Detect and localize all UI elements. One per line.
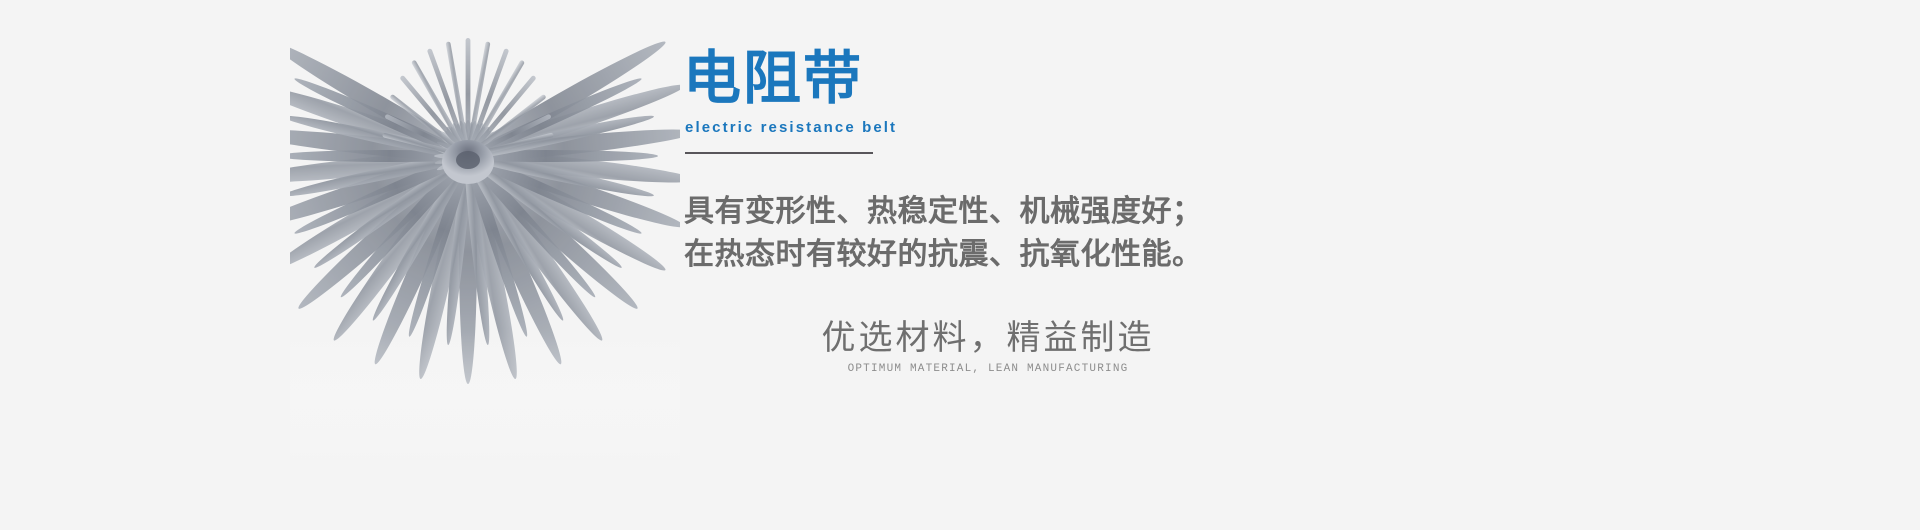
product-banner: 电阻带 electric resistance belt 具有变形性、热稳定性、… [0, 0, 1920, 530]
description-line-1: 具有变形性、热稳定性、机械强度好； [684, 190, 1244, 233]
slogan-chinese: 优选材料，精益制造 [778, 318, 1198, 360]
title-divider [685, 152, 873, 154]
slogan-block: 优选材料，精益制造 OPTIMUM MATERIAL, LEAN MANUFAC… [778, 318, 1198, 376]
resistance-belt-illustration [290, 28, 680, 508]
page-title: 电阻带 [683, 48, 863, 110]
product-description: 具有变形性、热稳定性、机械强度好； 在热态时有较好的抗震、抗氧化性能。 [684, 190, 1244, 276]
product-image [290, 28, 680, 508]
page-subtitle: electric resistance belt [685, 118, 897, 138]
description-line-2: 在热态时有较好的抗震、抗氧化性能。 [684, 233, 1244, 276]
banner-text-column: 电阻带 electric resistance belt 具有变形性、热稳定性、… [683, 0, 1683, 530]
slogan-english: OPTIMUM MATERIAL, LEAN MANUFACTURING [778, 362, 1198, 376]
